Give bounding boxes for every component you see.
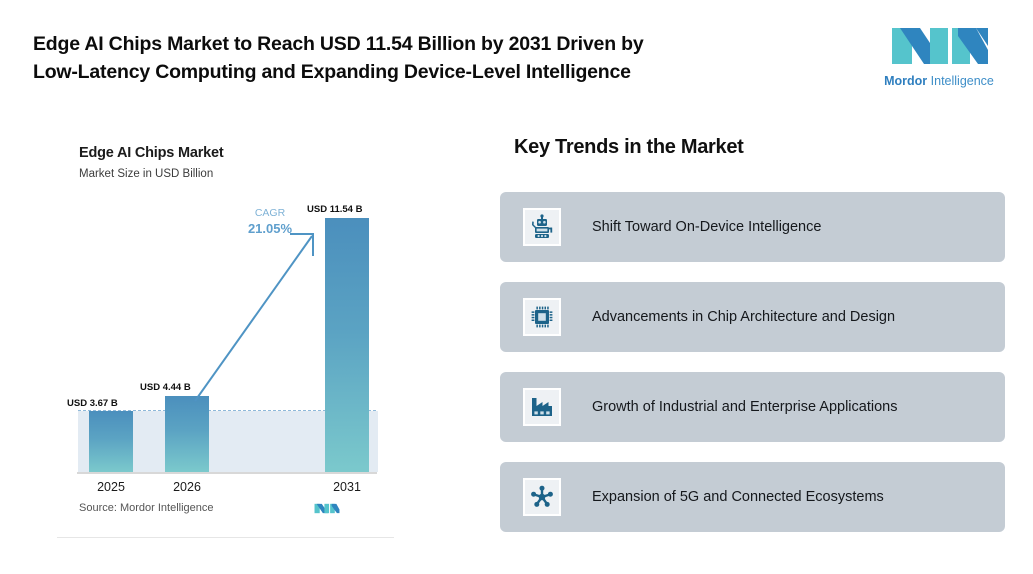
data-label-2025: USD 3.67 B — [67, 398, 118, 409]
mordor-mark-icon — [314, 500, 340, 517]
trend-card-2-label: Advancements in Chip Architecture and De… — [592, 306, 983, 328]
trend-card-4-label: Expansion of 5G and Connected Ecosystems — [592, 486, 983, 508]
panel-title: Key Trends in the Market — [514, 136, 744, 159]
trend-card-3[interactable]: Growth of Industrial and Enterprise Appl… — [500, 372, 1005, 442]
headline-line-1: Edge AI Chips Market to Reach USD 11.54 … — [33, 33, 643, 55]
headline-line-2: Low-Latency Computing and Expanding Devi… — [33, 58, 833, 86]
trend-card-3-label: Growth of Industrial and Enterprise Appl… — [592, 396, 983, 418]
chart-source-row: Source: Mordor Intelligence — [79, 500, 374, 520]
brand-logo: Mordor Intelligence — [876, 20, 1002, 92]
chart-source-text: Source: Mordor Intelligence — [79, 502, 214, 514]
x-tick-2025: 2025 — [89, 480, 133, 494]
bar-chart-plot: USD 3.67 B USD 4.44 B USD 11.54 B 2025 2… — [57, 128, 394, 538]
cagr-value: 21.05% — [239, 221, 301, 236]
x-tick-2031: 2031 — [325, 480, 369, 494]
factory-icon — [523, 388, 561, 426]
key-trends-panel: Key Trends in the Market — [500, 130, 1005, 540]
logo-suffix: Intelligence — [927, 74, 994, 88]
header: Edge AI Chips Market to Reach USD 11.54 … — [0, 0, 1033, 112]
trend-card-4[interactable]: Expansion of 5G and Connected Ecosystems — [500, 462, 1005, 532]
data-label-2026: USD 4.44 B — [140, 382, 191, 393]
trend-card-1[interactable]: Shift Toward On-Device Intelligence — [500, 192, 1005, 262]
logo-wordmark: Mordor Intelligence — [876, 74, 1002, 88]
page-title: Edge AI Chips Market to Reach USD 11.54 … — [33, 30, 833, 86]
chip-icon — [523, 298, 561, 336]
bar-2025 — [89, 411, 133, 472]
cagr-label-text: CAGR — [255, 207, 285, 219]
infographic-page: Edge AI Chips Market to Reach USD 11.54 … — [0, 0, 1033, 574]
cagr-arrow-icon — [187, 216, 327, 406]
trend-card-2[interactable]: Advancements in Chip Architecture and De… — [500, 282, 1005, 352]
chart-card: Edge AI Chips Market Market Size in USD … — [57, 128, 394, 538]
trend-card-1-label: Shift Toward On-Device Intelligence — [592, 216, 983, 238]
robot-icon — [523, 208, 561, 246]
bar-2031 — [325, 218, 369, 472]
data-label-2031: USD 11.54 B — [307, 204, 362, 215]
logo-brand: Mordor — [884, 74, 927, 88]
x-axis-line — [77, 472, 377, 474]
cagr-annotation: CAGR 21.05% — [239, 206, 301, 236]
network-hub-icon — [523, 478, 561, 516]
x-tick-2026: 2026 — [165, 480, 209, 494]
mordor-intelligence-logo-icon — [890, 20, 990, 72]
bar-2026 — [165, 396, 209, 472]
trend-card-list: Shift Toward On-Device Intelligence — [500, 192, 1005, 552]
